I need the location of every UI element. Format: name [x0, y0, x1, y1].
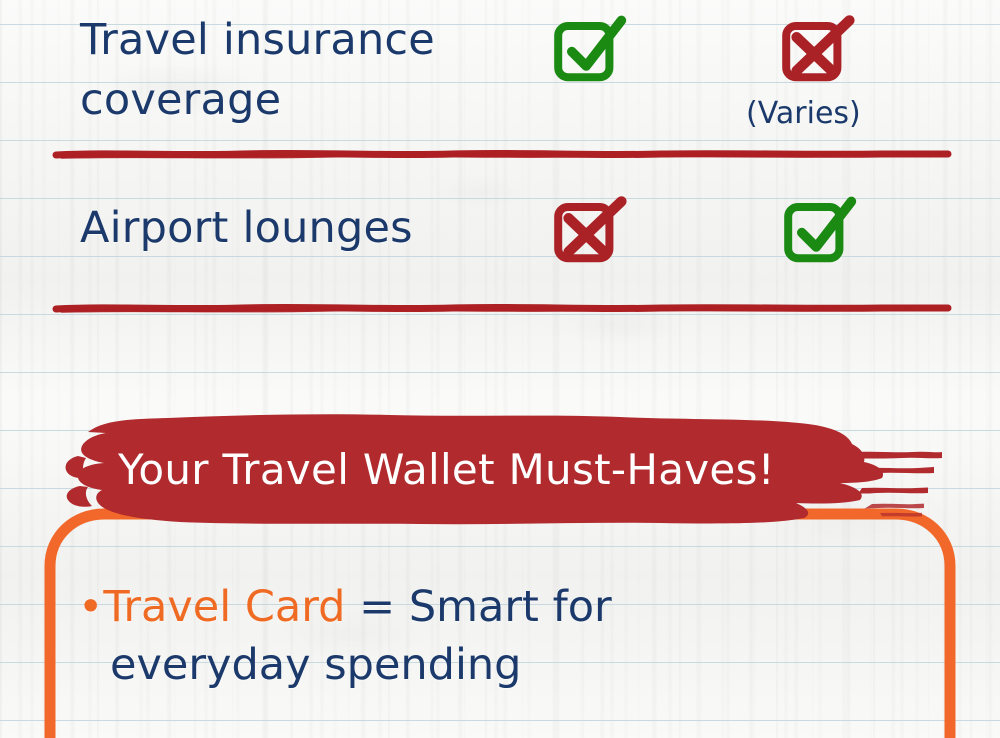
bullet-highlight: Travel Card [103, 582, 345, 632]
rule-line [0, 372, 1000, 373]
callout-bullet-list: •Travel Card = Smart for everyday spendi… [78, 578, 718, 694]
bullet-line-2: everyday spending [78, 636, 718, 694]
comparison-row-label: Airport lounges [80, 198, 413, 258]
bullet-rest: = Smart for [345, 582, 611, 632]
bullet-dot-icon: • [78, 582, 103, 632]
banner: Your Travel Wallet Must-Haves! [60, 408, 945, 533]
checkbox-crossed-icon [779, 10, 859, 90]
rule-line [0, 140, 1000, 141]
section-divider [52, 297, 952, 319]
checkbox-checked-icon [551, 10, 631, 90]
section-divider [52, 143, 952, 165]
checkbox-crossed-icon [551, 191, 631, 271]
bullet-line-1: •Travel Card = Smart for [78, 578, 718, 636]
comparison-note: (Varies) [746, 96, 861, 132]
banner-title: Your Travel Wallet Must-Haves! [118, 444, 878, 496]
comparison-row-label: Travel insurance coverage [80, 10, 435, 130]
comparison-row: Airport lounges [0, 190, 1000, 285]
checkbox-checked-icon [781, 191, 861, 271]
comparison-row: Travel insurance coverage (Varies) [0, 0, 1000, 140]
infographic-page: Travel insurance coverage (Varies) [0, 0, 1000, 738]
